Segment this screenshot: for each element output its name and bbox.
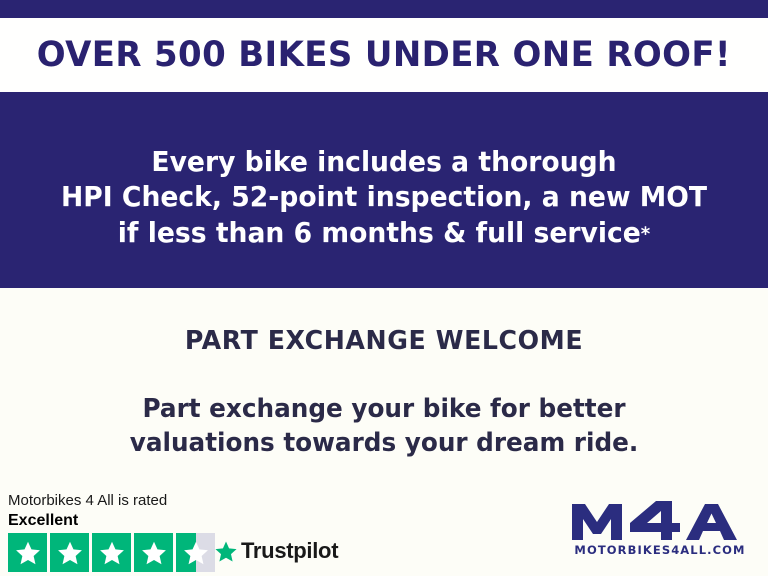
trustpilot-widget[interactable]: Motorbikes 4 All is rated Excellent bbox=[8, 488, 338, 576]
trustpilot-rated-label: Motorbikes 4 All is rated bbox=[8, 492, 167, 509]
feature-line-2: HPI Check, 52-point inspection, a new MO… bbox=[61, 179, 707, 215]
feature-band: Every bike includes a thorough HPI Check… bbox=[0, 92, 768, 288]
part-exchange-body-line-2: valuations towards your dream ride. bbox=[19, 426, 749, 460]
footnote-asterisk: * bbox=[641, 223, 650, 245]
trustpilot-wordmark: Trustpilot bbox=[241, 538, 338, 564]
m4a-wordmark-text: MOTORBIKES4ALL.COM bbox=[574, 543, 745, 557]
star-icon bbox=[50, 533, 89, 572]
part-exchange-heading: PART EXCHANGE WELCOME bbox=[12, 326, 757, 356]
page-title: OVER 500 BIKES UNDER ONE ROOF! bbox=[37, 38, 731, 73]
star-icon bbox=[8, 533, 47, 572]
part-exchange-body-line-1: Part exchange your bike for better bbox=[19, 392, 749, 426]
star-icon bbox=[134, 533, 173, 572]
part-exchange-body: Part exchange your bike for better valua… bbox=[19, 392, 749, 461]
feature-text-block: Every bike includes a thorough HPI Check… bbox=[61, 130, 707, 251]
star-icon bbox=[92, 533, 131, 572]
trustpilot-brand: Trustpilot bbox=[214, 538, 338, 564]
star-half-icon bbox=[176, 533, 215, 572]
feature-line-3-text: if less than 6 months & full service bbox=[118, 216, 641, 249]
top-accent-rule bbox=[0, 0, 768, 18]
m4a-logo-mark: MOTORBIKES4ALL.COM bbox=[568, 500, 752, 558]
lower-section: PART EXCHANGE WELCOME Part exchange your… bbox=[0, 288, 768, 576]
promo-banner: OVER 500 BIKES UNDER ONE ROOF! Every bik… bbox=[0, 0, 768, 576]
feature-line-3: if less than 6 months & full service* bbox=[61, 215, 707, 251]
trustpilot-score-label: Excellent bbox=[8, 512, 78, 530]
m4a-logo[interactable]: MOTORBIKES4ALL.COM bbox=[568, 500, 752, 558]
trustpilot-star-rating bbox=[8, 533, 215, 572]
trustpilot-star-icon bbox=[214, 540, 238, 563]
feature-line-1: Every bike includes a thorough bbox=[61, 144, 707, 180]
headline-band: OVER 500 BIKES UNDER ONE ROOF! bbox=[0, 18, 768, 92]
